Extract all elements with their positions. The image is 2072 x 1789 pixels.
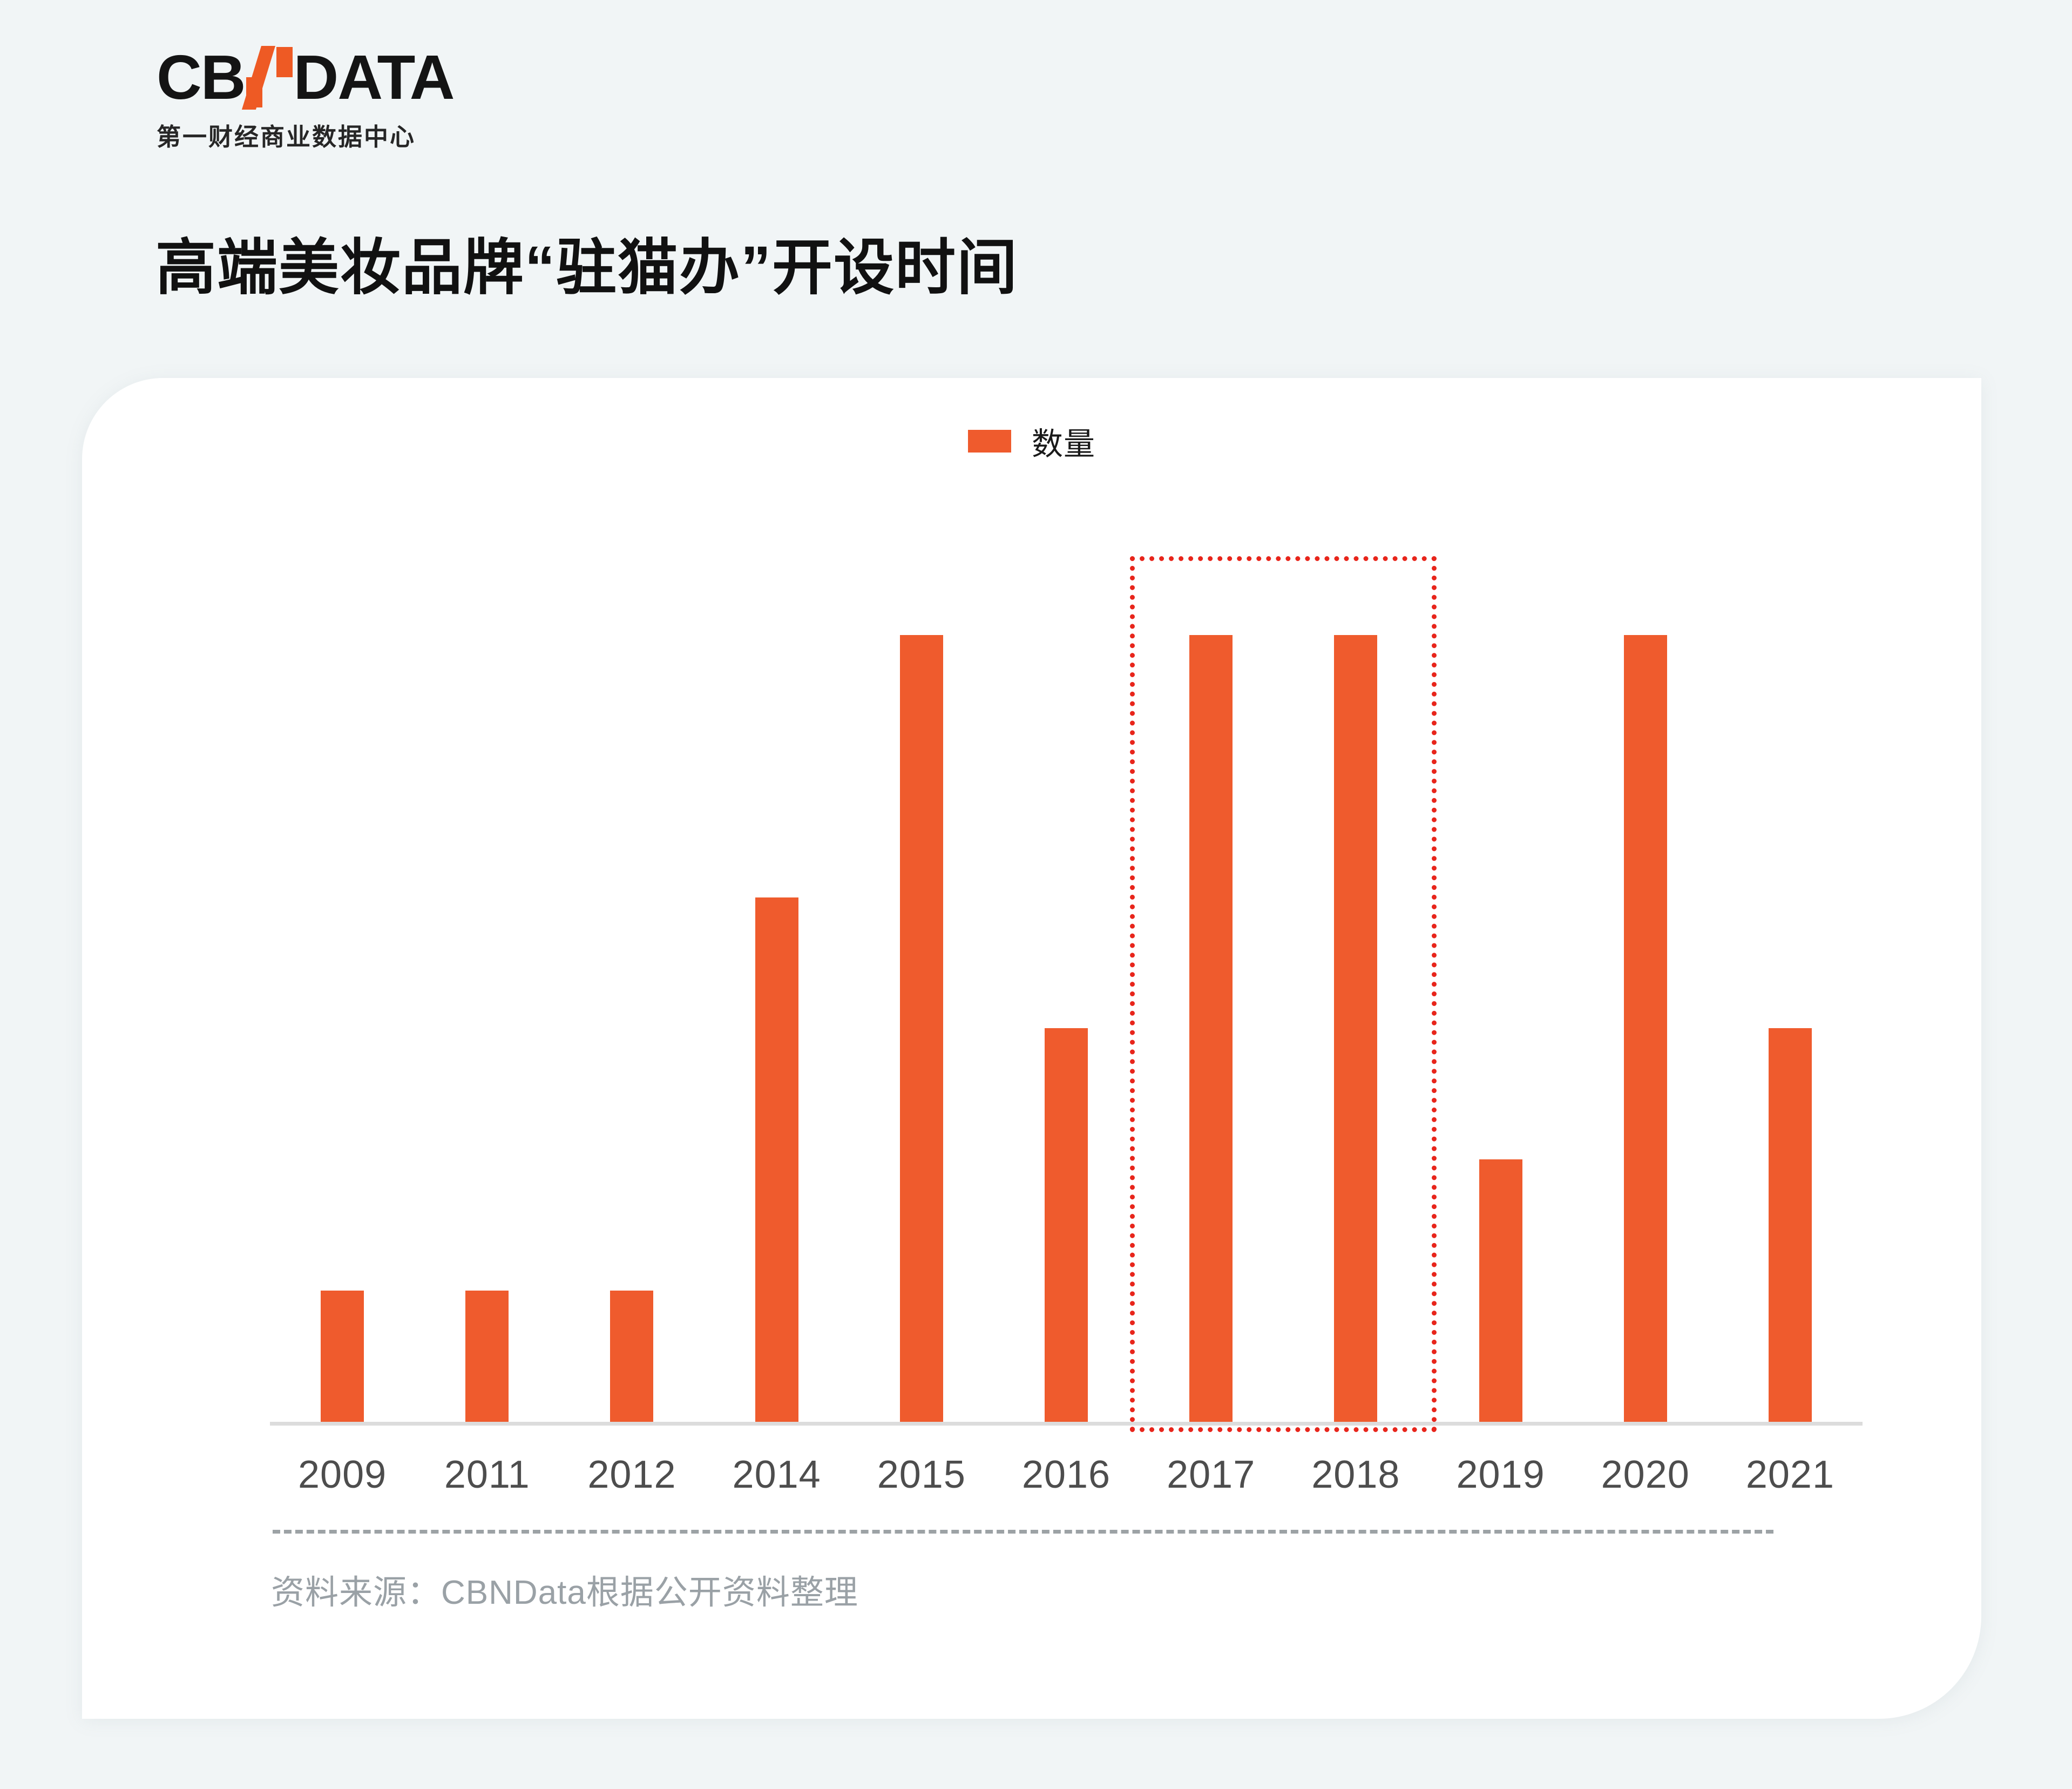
- x-axis-line: [270, 1422, 1863, 1426]
- legend-label: 数量: [1032, 418, 1095, 464]
- x-label-2014: 2014: [712, 1453, 842, 1497]
- chart-card: 数量 2009201120122014201520162017201820192…: [82, 378, 1981, 1719]
- brand-wordmark: CB DATA: [157, 46, 454, 109]
- bar-series: [270, 556, 1863, 1422]
- bar-2015[interactable]: [900, 635, 943, 1422]
- bar-2019[interactable]: [1479, 1159, 1522, 1422]
- brand-subtitle: 第一财经商业数据中心: [157, 117, 454, 152]
- plot-area: [270, 556, 1863, 1426]
- bar-2014[interactable]: [755, 897, 798, 1422]
- bar-2017[interactable]: [1189, 635, 1233, 1422]
- bar-2018[interactable]: [1334, 635, 1377, 1422]
- brand-logo: CB DATA 第一财经商业数据中心: [157, 46, 454, 152]
- x-label-2018: 2018: [1291, 1453, 1420, 1497]
- x-label-2015: 2015: [857, 1453, 986, 1497]
- brand-n-letter-icon: [246, 47, 293, 107]
- bar-2020[interactable]: [1624, 635, 1667, 1422]
- source-note: 资料来源：CBNData根据公开资料整理: [271, 1565, 858, 1614]
- bar-2021[interactable]: [1769, 1028, 1812, 1422]
- x-label-2017: 2017: [1146, 1453, 1276, 1497]
- x-label-2011: 2011: [422, 1453, 552, 1497]
- legend-swatch-icon: [968, 430, 1011, 453]
- page-title: 高端美妆品牌“驻猫办”开设时间: [155, 219, 1018, 306]
- x-label-2009: 2009: [277, 1453, 407, 1497]
- bar-2009[interactable]: [321, 1291, 364, 1422]
- bar-2012[interactable]: [610, 1291, 653, 1422]
- x-label-2016: 2016: [1001, 1453, 1131, 1497]
- x-label-2019: 2019: [1436, 1453, 1566, 1497]
- x-label-2021: 2021: [1725, 1453, 1855, 1497]
- bar-2016[interactable]: [1045, 1028, 1088, 1422]
- bar-2011[interactable]: [465, 1291, 509, 1422]
- chart-legend: 数量: [82, 418, 1981, 464]
- x-label-2020: 2020: [1581, 1453, 1710, 1497]
- brand-wordmark-lead: CB: [157, 46, 245, 109]
- x-axis-labels: 2009201120122014201520162017201820192020…: [270, 1453, 1863, 1507]
- x-label-2012: 2012: [567, 1453, 696, 1497]
- footer-divider: [273, 1530, 1773, 1534]
- brand-wordmark-tail: DATA: [294, 46, 454, 109]
